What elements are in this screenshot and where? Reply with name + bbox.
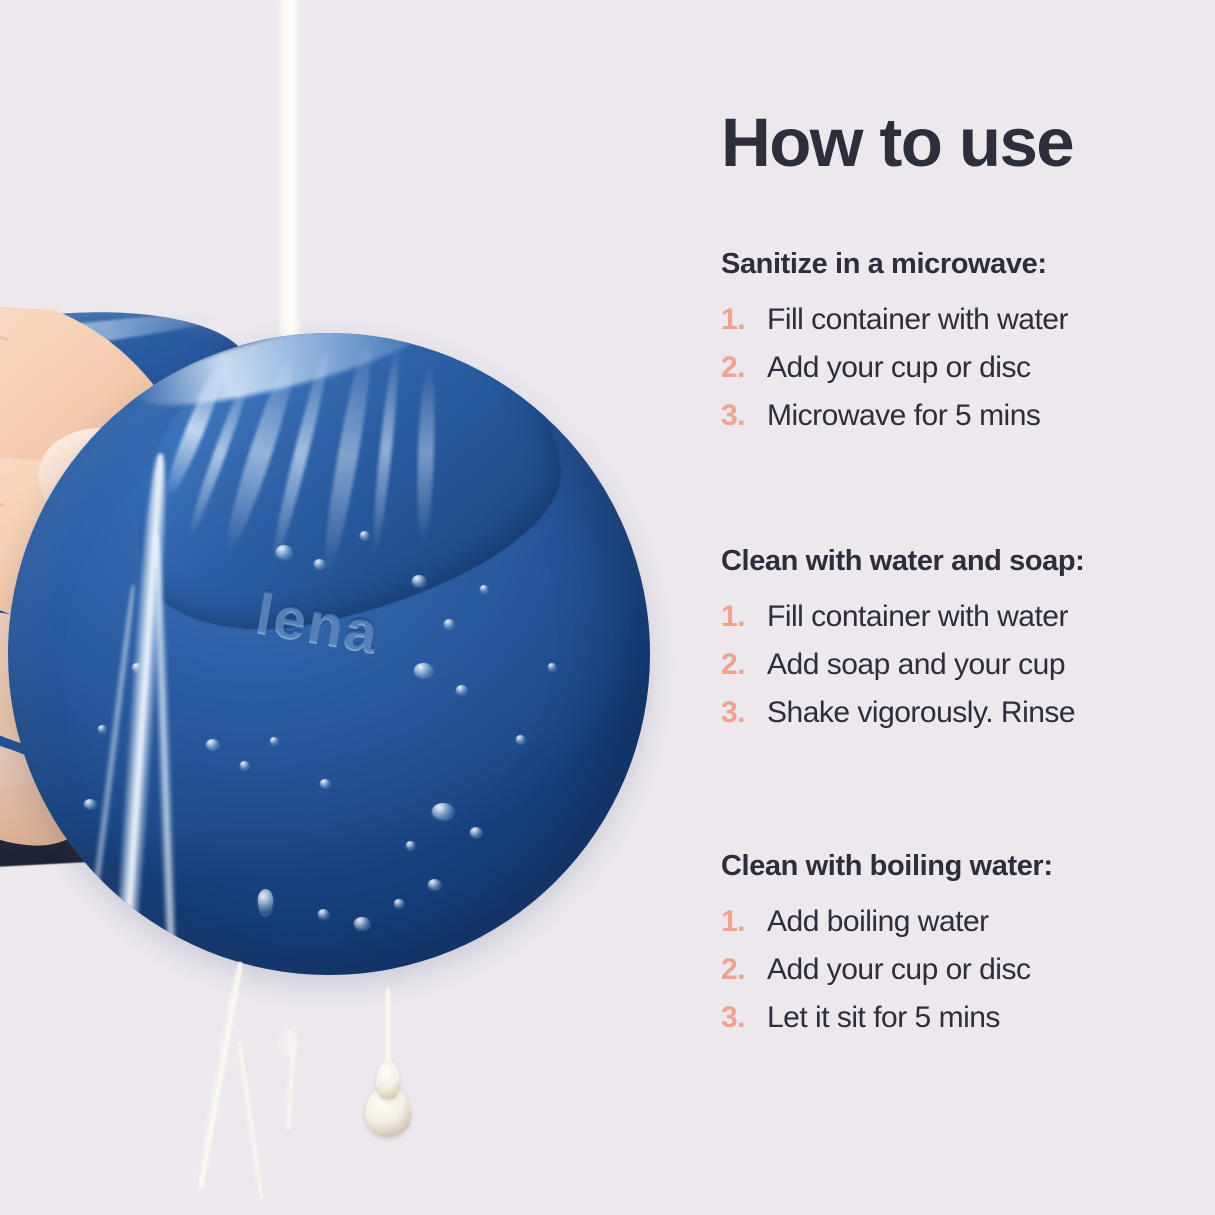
water-droplet-icon bbox=[456, 685, 467, 694]
section-heading: Clean with boiling water: bbox=[721, 850, 1201, 883]
step-text: Add soap and your cup bbox=[767, 648, 1065, 682]
section-heading: Clean with water and soap: bbox=[721, 545, 1201, 578]
water-droplet-icon bbox=[314, 559, 325, 568]
list-item: 3. Microwave for 5 mins bbox=[721, 399, 1201, 433]
step-number: 2. bbox=[721, 648, 767, 682]
water-droplet-icon bbox=[354, 917, 370, 929]
step-number: 1. bbox=[721, 905, 767, 939]
list-item: 3. Shake vigorously. Rinse bbox=[721, 696, 1201, 730]
water-droplet-icon bbox=[318, 909, 329, 918]
step-text: Microwave for 5 mins bbox=[767, 399, 1040, 433]
step-text: Add boiling water bbox=[767, 905, 989, 939]
step-text: Let it sit for 5 mins bbox=[767, 1001, 1000, 1035]
water-droplet-icon bbox=[480, 585, 488, 592]
list-item: 2. Add soap and your cup bbox=[721, 648, 1201, 682]
step-number: 3. bbox=[721, 1001, 767, 1035]
water-droplet-icon bbox=[84, 799, 96, 808]
drip-stream bbox=[235, 1040, 266, 1200]
section-heading: Sanitize in a microwave: bbox=[721, 248, 1201, 281]
water-droplet-icon bbox=[320, 779, 330, 787]
step-list: 1. Fill container with water 2. Add your… bbox=[721, 303, 1201, 433]
list-item: 2. Add your cup or disc bbox=[721, 953, 1201, 987]
water-stream-highlight-icon bbox=[286, 0, 298, 340]
water-droplet-icon bbox=[548, 663, 556, 670]
water-droplet-icon bbox=[258, 889, 273, 915]
step-text: Fill container with water bbox=[767, 303, 1068, 337]
silicone-disc: lena bbox=[8, 333, 650, 975]
step-text: Add your cup or disc bbox=[767, 953, 1030, 987]
drip-stream bbox=[194, 961, 247, 1190]
list-item: 3. Let it sit for 5 mins bbox=[721, 1001, 1201, 1035]
list-item: 1. Fill container with water bbox=[721, 600, 1201, 634]
product-instruction-graphic: lena bbox=[0, 0, 1215, 1215]
water-droplet-icon bbox=[270, 737, 278, 744]
step-number: 3. bbox=[721, 696, 767, 730]
step-number: 2. bbox=[721, 351, 767, 385]
step-text: Shake vigorously. Rinse bbox=[767, 696, 1075, 730]
step-list: 1. Fill container with water 2. Add soap… bbox=[721, 600, 1201, 730]
water-droplet-icon bbox=[376, 1060, 400, 1100]
water-droplet-icon bbox=[132, 663, 142, 671]
step-number: 1. bbox=[721, 600, 767, 634]
water-droplet-icon bbox=[428, 879, 441, 889]
step-number: 3. bbox=[721, 399, 767, 433]
water-droplet-icon bbox=[240, 761, 249, 769]
water-droplet-icon bbox=[414, 663, 433, 677]
water-droplet-icon bbox=[206, 739, 219, 749]
step-text: Add your cup or disc bbox=[767, 351, 1030, 385]
product-photo: lena bbox=[0, 0, 690, 1215]
list-item: 1. Fill container with water bbox=[721, 303, 1201, 337]
section-clean-water-soap: Clean with water and soap: 1. Fill conta… bbox=[721, 545, 1201, 744]
water-droplet-icon bbox=[516, 735, 525, 743]
list-item: 1. Add boiling water bbox=[721, 905, 1201, 939]
water-droplet-icon bbox=[98, 725, 106, 732]
page-title: How to use bbox=[721, 108, 1073, 177]
step-number: 2. bbox=[721, 953, 767, 987]
instructions-panel: How to use Sanitize in a microwave: 1. F… bbox=[690, 0, 1215, 1215]
water-droplet-icon bbox=[276, 545, 292, 558]
water-droplet-icon bbox=[470, 827, 482, 837]
water-droplet-icon bbox=[432, 803, 454, 819]
list-item: 2. Add your cup or disc bbox=[721, 351, 1201, 385]
section-clean-boiling-water: Clean with boiling water: 1. Add boiling… bbox=[721, 850, 1201, 1049]
water-droplet-icon bbox=[444, 619, 454, 628]
step-list: 1. Add boiling water 2. Add your cup or … bbox=[721, 905, 1201, 1035]
step-text: Fill container with water bbox=[767, 600, 1068, 634]
water-droplet-icon bbox=[394, 899, 404, 907]
water-droplet-icon bbox=[360, 531, 369, 539]
water-droplet-icon bbox=[406, 841, 415, 849]
section-sanitize-microwave: Sanitize in a microwave: 1. Fill contain… bbox=[721, 248, 1201, 447]
water-droplet-icon bbox=[412, 575, 426, 586]
step-number: 1. bbox=[721, 303, 767, 337]
